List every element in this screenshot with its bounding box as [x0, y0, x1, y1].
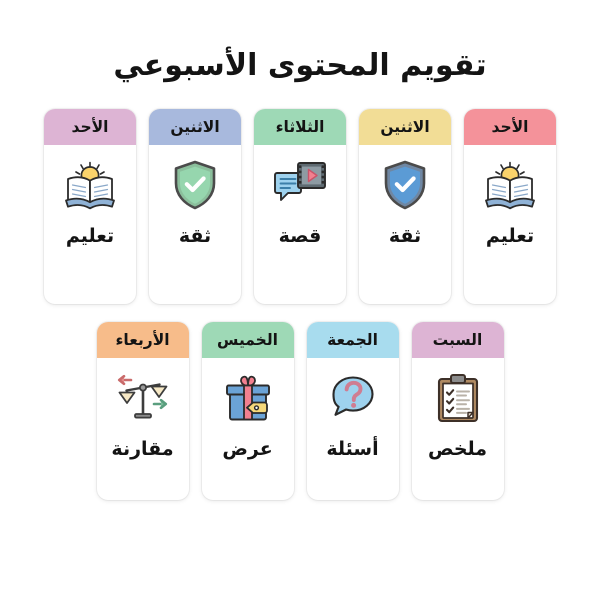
day-name-label: الثلاثاء: [276, 118, 325, 136]
title-container: تقويم المحتوى الأسبوعي: [0, 46, 600, 86]
video-chat-icon: [273, 159, 327, 211]
day-card-header: الأحد: [464, 109, 556, 145]
day-card-body: عرض: [202, 358, 294, 500]
day-card-header: الاثنين: [359, 109, 451, 145]
day-card[interactable]: الخميس عرض: [202, 322, 294, 500]
day-card[interactable]: الأحد تعليم: [464, 109, 556, 304]
day-card[interactable]: الاثنين ثقة: [359, 109, 451, 304]
gift-box-icon: [221, 372, 275, 424]
content-type-label: ثقة: [389, 225, 421, 249]
day-name-label: الأحد: [492, 118, 529, 136]
day-card-body: تعليم: [44, 145, 136, 304]
day-name-label: الأربعاء: [115, 331, 169, 349]
content-type-label: أسئلة: [326, 438, 378, 462]
day-card[interactable]: الأحد تعليم: [44, 109, 136, 304]
week-row-2: الأربعاء مقارنةالخميس: [0, 322, 600, 500]
day-card[interactable]: الاثنين ثقة: [149, 109, 241, 304]
book-lightbulb-icon: [483, 159, 537, 211]
question-bubble-icon: [326, 372, 380, 424]
clipboard-checklist-icon: [431, 372, 485, 424]
day-card-header: الاثنين: [149, 109, 241, 145]
day-name-label: الجمعة: [327, 331, 378, 349]
day-card-body: ثقة: [359, 145, 451, 304]
page-title: تقويم المحتوى الأسبوعي: [60, 46, 540, 86]
day-card-body: تعليم: [464, 145, 556, 304]
day-name-label: الاثنين: [380, 118, 429, 136]
content-type-label: ملخص: [428, 438, 487, 462]
day-card[interactable]: الجمعة أسئلة: [307, 322, 399, 500]
day-name-label: الخميس: [217, 331, 278, 349]
day-card-body: ملخص: [412, 358, 504, 500]
book-lightbulb-icon: [63, 159, 117, 211]
shield-check-blue-icon: [378, 159, 432, 211]
day-name-label: السبت: [433, 331, 483, 349]
day-name-label: الأحد: [72, 118, 109, 136]
content-type-label: ثقة: [179, 225, 211, 249]
day-card[interactable]: الأربعاء مقارنة: [97, 322, 189, 500]
week-row-1: الأحد تعليمالاثنين: [0, 109, 600, 304]
weekly-content-calendar: تقويم المحتوى الأسبوعي الأحد: [0, 0, 600, 600]
day-card-header: السبت: [412, 322, 504, 358]
shield-check-green-icon: [168, 159, 222, 211]
day-card-header: الأربعاء: [97, 322, 189, 358]
day-card-header: الخميس: [202, 322, 294, 358]
day-card-header: الأحد: [44, 109, 136, 145]
day-card-body: أسئلة: [307, 358, 399, 500]
balance-scales-icon: [116, 372, 170, 424]
content-type-label: تعليم: [66, 225, 114, 249]
day-card[interactable]: الثلاثاء قصة: [254, 109, 346, 304]
day-card-body: قصة: [254, 145, 346, 304]
content-type-label: مقارنة: [111, 438, 173, 462]
day-name-label: الاثنين: [170, 118, 219, 136]
day-card[interactable]: السبت ملخص: [412, 322, 504, 500]
content-type-label: عرض: [222, 438, 272, 462]
day-card-body: ثقة: [149, 145, 241, 304]
day-card-header: الجمعة: [307, 322, 399, 358]
day-card-header: الثلاثاء: [254, 109, 346, 145]
content-type-label: تعليم: [486, 225, 534, 249]
content-type-label: قصة: [279, 225, 322, 249]
day-card-body: مقارنة: [97, 358, 189, 500]
